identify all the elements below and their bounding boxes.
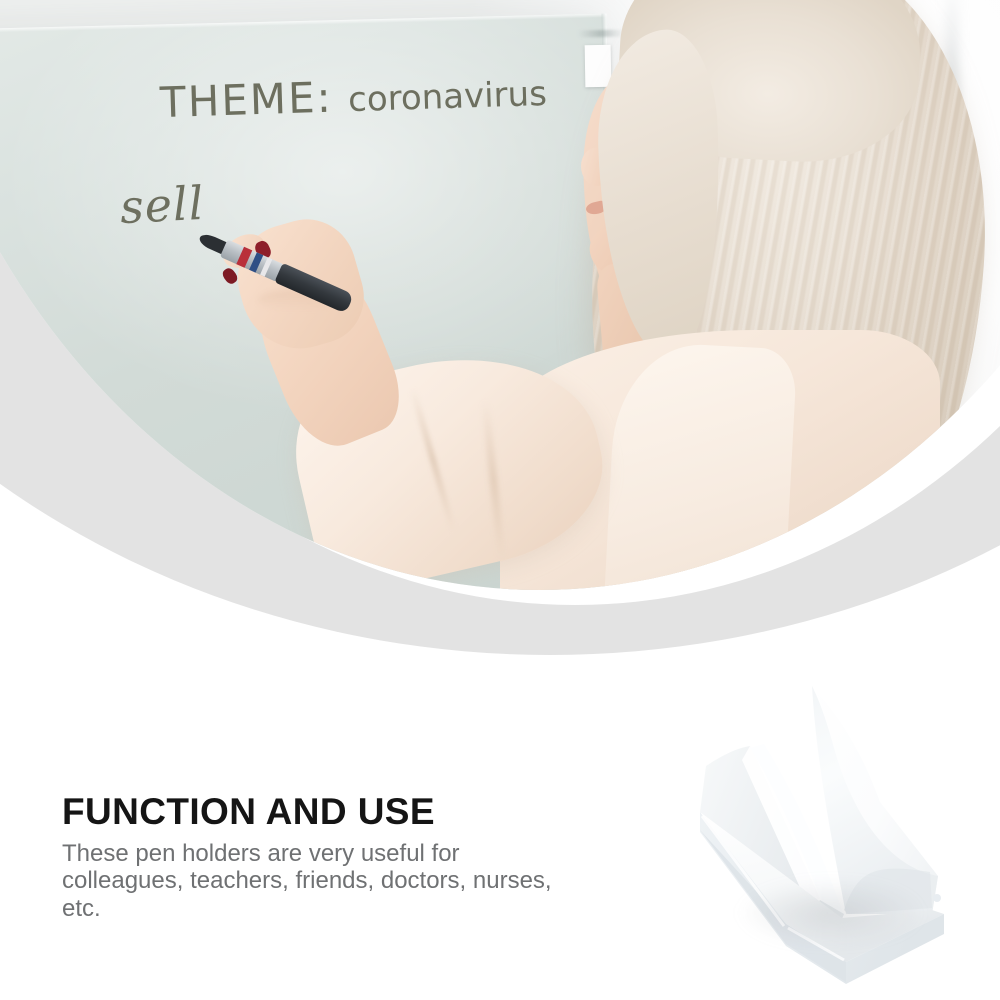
sticky-note-icon [585,45,612,87]
whiteboard-second-line: sell [119,176,206,234]
copy-block: FUNCTION AND USE These pen holders are v… [62,793,622,922]
product-banner: THEME: coronavirus sell [0,0,1000,1000]
whiteboard-theme-value: coronavirus [348,74,548,120]
whiteboard-rail [578,30,624,38]
hero-photo: THEME: coronavirus sell [0,0,1000,590]
whiteboard-theme-label: THEME: [159,73,333,127]
product-pen-holder [694,662,994,992]
page-subtitle: These pen holders are very useful for co… [62,840,562,922]
product-shadow [700,858,962,968]
page-title: FUNCTION AND USE [62,793,622,830]
hero-photo-clip: THEME: coronavirus sell [0,0,1000,590]
